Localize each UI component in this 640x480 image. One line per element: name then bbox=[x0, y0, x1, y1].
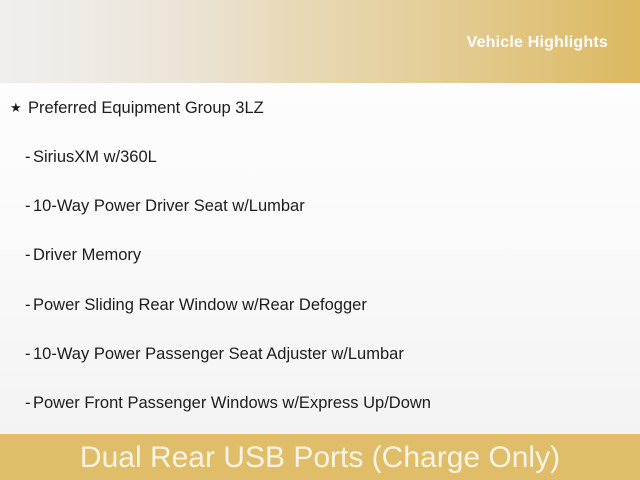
list-item: - SiriusXM w/360L bbox=[0, 132, 640, 181]
header-title: Vehicle Highlights bbox=[467, 35, 608, 51]
highlights-body: ★ Preferred Equipment Group 3LZ - Sirius… bbox=[0, 83, 640, 434]
dash-bullet-icon: - bbox=[25, 197, 33, 215]
dash-bullet-icon: - bbox=[25, 148, 33, 166]
feature-list: ★ Preferred Equipment Group 3LZ - Sirius… bbox=[0, 83, 640, 428]
list-item-label: Preferred Equipment Group 3LZ bbox=[28, 99, 264, 117]
vehicle-highlights-slide: Vehicle Highlights ★ Preferred Equipment… bbox=[0, 0, 640, 480]
list-item: ★ Preferred Equipment Group 3LZ bbox=[0, 83, 640, 132]
list-item: - 10-Way Power Passenger Seat Adjuster w… bbox=[0, 329, 640, 378]
dash-bullet-icon: - bbox=[25, 246, 33, 264]
dash-bullet-icon: - bbox=[25, 394, 33, 412]
dash-bullet-icon: - bbox=[25, 296, 33, 314]
list-item: - Power Sliding Rear Window w/Rear Defog… bbox=[0, 280, 640, 329]
list-item: - Driver Memory bbox=[0, 231, 640, 280]
list-item: - 10-Way Power Driver Seat w/Lumbar bbox=[0, 182, 640, 231]
list-item: - Power Front Passenger Windows w/Expres… bbox=[0, 379, 640, 428]
list-item-label: Driver Memory bbox=[33, 246, 141, 264]
header-banner: Vehicle Highlights bbox=[0, 0, 640, 83]
star-bullet-icon: ★ bbox=[10, 101, 28, 114]
list-item-label: 10-Way Power Passenger Seat Adjuster w/L… bbox=[33, 345, 404, 363]
list-item-label: SiriusXM w/360L bbox=[33, 148, 157, 166]
footer-highlight-text: Dual Rear USB Ports (Charge Only) bbox=[80, 443, 560, 473]
list-item-label: 10-Way Power Driver Seat w/Lumbar bbox=[33, 197, 305, 215]
list-item-label: Power Sliding Rear Window w/Rear Defogge… bbox=[33, 296, 367, 314]
dash-bullet-icon: - bbox=[25, 345, 33, 363]
list-item-label: Power Front Passenger Windows w/Express … bbox=[33, 394, 431, 412]
footer-banner: Dual Rear USB Ports (Charge Only) bbox=[0, 434, 640, 480]
